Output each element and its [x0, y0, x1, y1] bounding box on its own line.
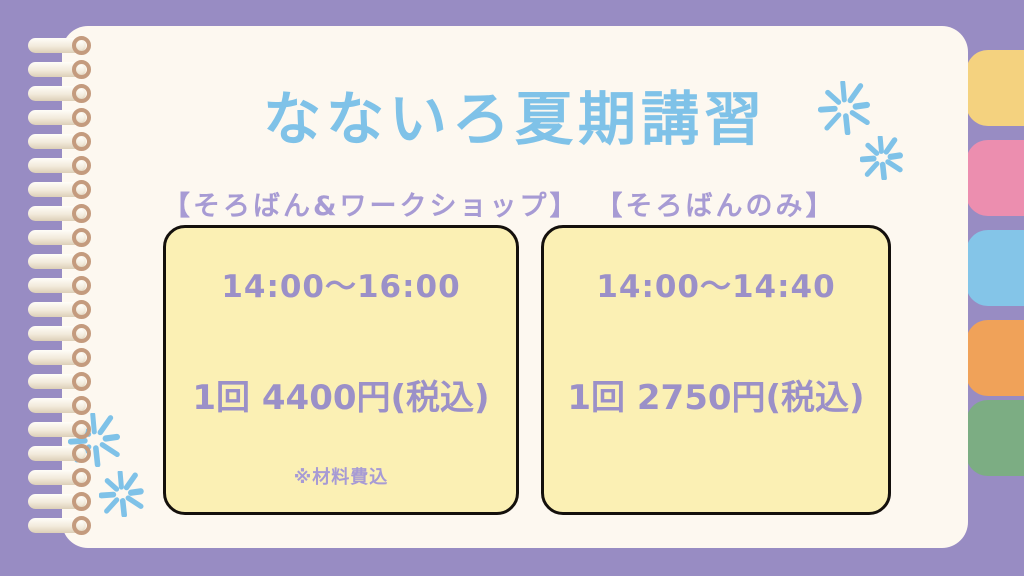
tab-yellow[interactable] [966, 50, 1024, 126]
plan-time: 14:00〜14:40 [596, 261, 835, 306]
poster-canvas: なないろ夏期講習 【そろばん&ワークショップ】 【そろばんのみ】 14:00〜1… [0, 0, 1024, 576]
plan-note: ※材料費込 [294, 463, 389, 489]
plan-card-soroban-workshop[interactable]: 14:00〜16:00 1回 4400円(税込) ※材料費込 [163, 225, 519, 515]
tab-blue[interactable] [966, 230, 1024, 306]
plan-card-soroban-only[interactable]: 14:00〜14:40 1回 2750円(税込) [541, 225, 891, 515]
tab-green[interactable] [966, 400, 1024, 476]
column-heading-soroban-workshop: 【そろばん&ワークショップ】 [163, 184, 518, 223]
plan-price: 1回 2750円(税込) [567, 370, 864, 419]
sparkle-bottom-left-large [68, 413, 122, 467]
notebook-page: なないろ夏期講習 【そろばん&ワークショップ】 【そろばんのみ】 14:00〜1… [62, 26, 968, 548]
tab-orange[interactable] [966, 320, 1024, 396]
sparkle-top-right-large [818, 81, 872, 135]
sparkle-bottom-left-small [99, 471, 145, 517]
plan-price: 1回 4400円(税込) [192, 370, 489, 419]
sparkle-top-right-small [860, 136, 904, 180]
column-heading-soroban-only: 【そろばんのみ】 [541, 184, 890, 223]
plan-time: 14:00〜16:00 [221, 261, 460, 306]
tab-pink[interactable] [966, 140, 1024, 216]
